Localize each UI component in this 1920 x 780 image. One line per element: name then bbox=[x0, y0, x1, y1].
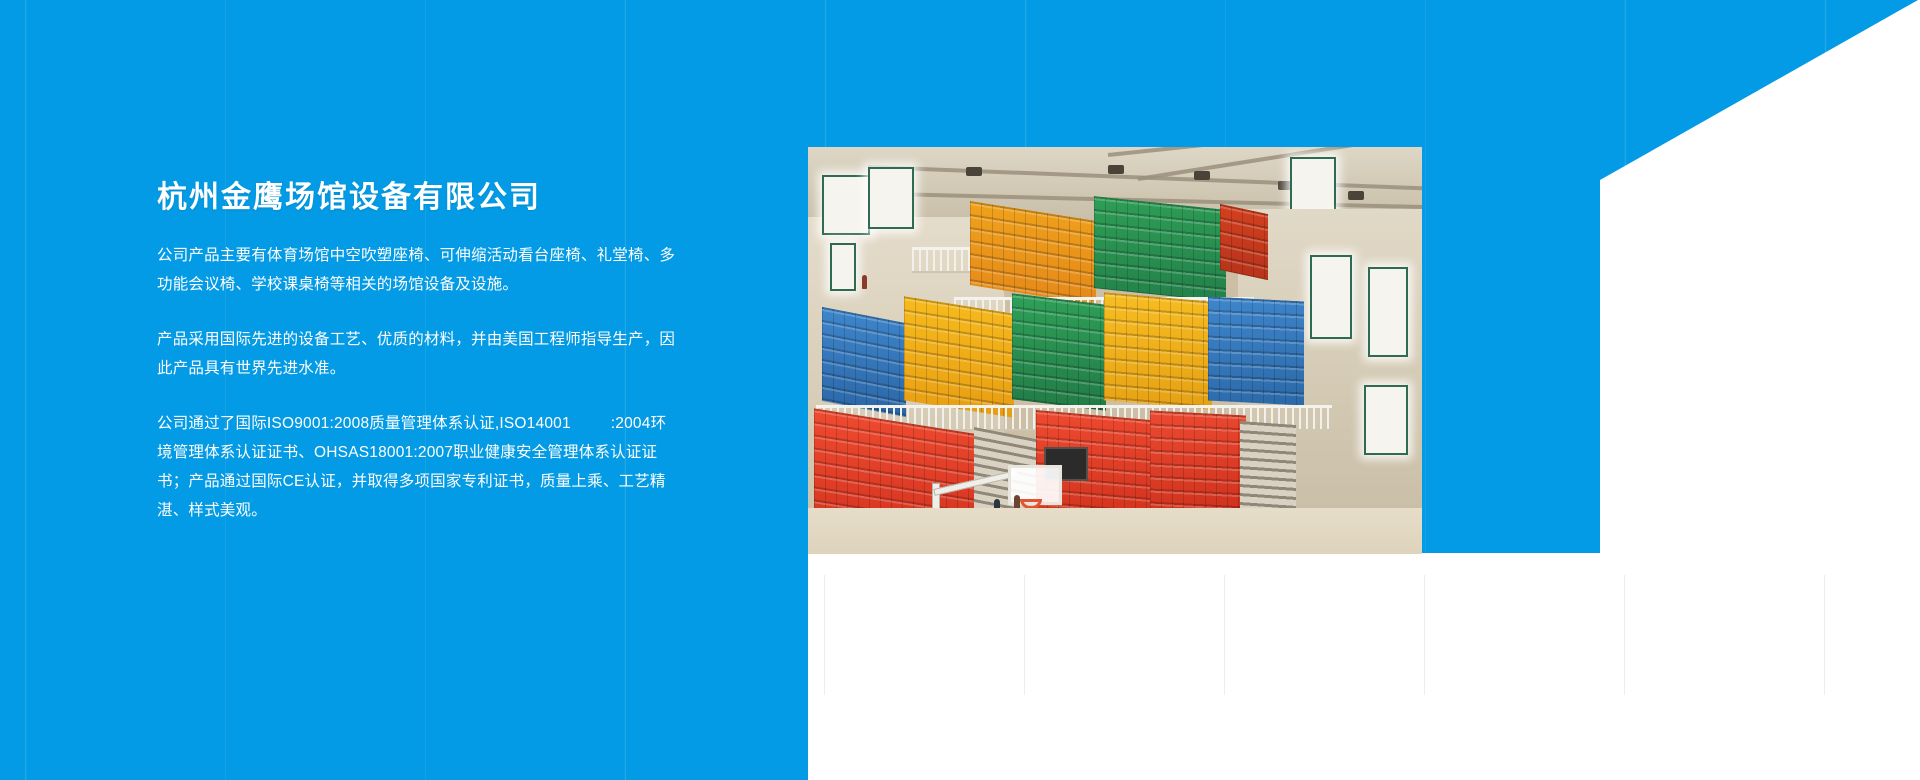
arena-photo bbox=[808, 147, 1422, 554]
photo-window bbox=[1310, 255, 1352, 339]
arena-photo-canvas bbox=[808, 147, 1422, 554]
company-title: 杭州金鹰场馆设备有限公司 bbox=[157, 178, 677, 217]
photo-ceiling-lamp bbox=[1348, 191, 1364, 200]
certification-line-a: 公司通过了国际ISO9001:2008质量管理体系认证,ISO14001 bbox=[157, 415, 571, 432]
plate-divider bbox=[1024, 575, 1025, 695]
photo-window bbox=[1290, 157, 1336, 215]
paragraph-products: 公司产品主要有体育场馆中空吹塑座椅、可伸缩活动看台座椅、礼堂椅、多功能会议椅、学… bbox=[157, 241, 677, 299]
photo-window bbox=[868, 167, 914, 229]
photo-seat-block-green-middle bbox=[1012, 293, 1106, 411]
photo-window bbox=[830, 243, 856, 291]
photo-window bbox=[822, 175, 870, 235]
plate-divider bbox=[1424, 575, 1425, 695]
photo-arena-floor bbox=[808, 508, 1422, 554]
paragraph-certification: 公司通过了国际ISO9001:2008质量管理体系认证,ISO14001:200… bbox=[157, 409, 677, 525]
photo-window bbox=[1368, 267, 1408, 357]
photo-ceiling-lamp bbox=[966, 167, 982, 176]
photo-seat-block-yellow-middle bbox=[904, 296, 1014, 417]
plate-divider bbox=[1824, 575, 1825, 695]
bottom-white-plate bbox=[808, 553, 1920, 780]
paragraph-quality: 产品采用国际先进的设备工艺、优质的材料，并由美国工程师指导生产，因此产品具有世界… bbox=[157, 325, 677, 383]
photo-seat-block-blue-middle-right bbox=[1208, 296, 1304, 405]
photo-seat-block-green-upper bbox=[1094, 196, 1226, 302]
promo-banner: 杭州金鹰场馆设备有限公司 公司产品主要有体育场馆中空吹塑座椅、可伸缩活动看台座椅… bbox=[0, 0, 1920, 780]
photo-window bbox=[1364, 385, 1408, 455]
photo-seat-block-blue-middle bbox=[822, 307, 906, 417]
plate-divider bbox=[824, 575, 825, 695]
plate-divider bbox=[1624, 575, 1625, 695]
intro-text-column: 杭州金鹰场馆设备有限公司 公司产品主要有体育场馆中空吹塑座椅、可伸缩活动看台座椅… bbox=[157, 178, 677, 525]
photo-ceiling-lamp bbox=[1108, 165, 1124, 174]
photo-seat-block-red-upper bbox=[1220, 204, 1268, 280]
photo-person bbox=[862, 275, 867, 289]
photo-ceiling-lamp bbox=[1194, 171, 1210, 180]
plate-divider bbox=[1224, 575, 1225, 695]
photo-seat-block-yellow-middle-right bbox=[1104, 292, 1212, 409]
